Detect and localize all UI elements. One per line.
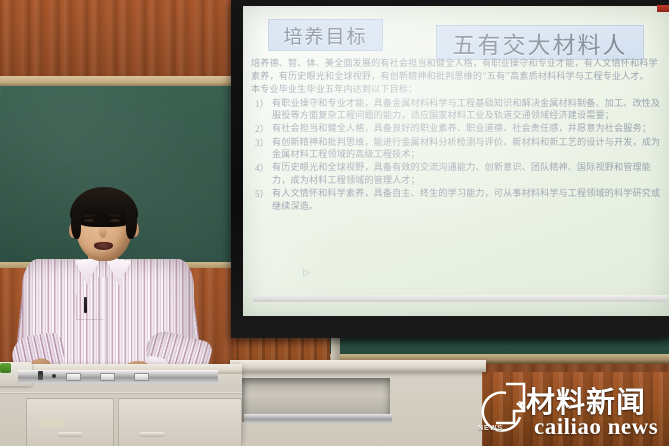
desk-right-top-lip: [230, 360, 486, 372]
speaker-eyebrow-right: [109, 214, 121, 217]
lectern-drawer-seam: [0, 392, 242, 394]
slide-goal-item: 2） 有社会担当和健全人格，具备良好的职业素养、职业道德、社会责任感，并愿意为社…: [251, 123, 661, 136]
goal-text: 有创新精神和批判思维，能进行金属材料分析检测与评价、新材料和新工艺的设计与开发，…: [272, 137, 661, 162]
goal-text: 有历史眼光和全球视野，具备有效的交流沟通能力、创新意识、团队精神、国际视野和管理…: [272, 162, 661, 187]
goal-number: 5）: [251, 188, 272, 213]
slide-intro-paragraph: 培养德、智、体、美全面发展的有社会担当和健全人格，有职业操守和专业才能，有人文情…: [251, 58, 661, 83]
slide-body: 培养德、智、体、美全面发展的有社会担当和健全人格，有职业操守和专业才能，有人文情…: [251, 58, 661, 214]
lectern-keyboard-drawer-rail: [18, 370, 218, 383]
slide-title-right: 五有交大材料人: [436, 25, 644, 60]
lectern-label-sticker: [40, 420, 64, 427]
speaker-mouth: [94, 242, 113, 250]
pen-icon: [84, 297, 87, 313]
goal-number: 3）: [251, 137, 272, 162]
lectern-drawer-pull-right[interactable]: [140, 432, 164, 437]
lectern-drawer-pull-left[interactable]: [58, 432, 82, 437]
slide-goal-item: 3） 有创新精神和批判思维，能进行金属材料分析检测与评价、新材料和新工艺的设计与…: [251, 137, 661, 162]
speaker-nose: [99, 225, 107, 238]
slide-title-left: 培养目标: [268, 19, 383, 51]
desk-right-drawer-rail: [244, 414, 392, 423]
slide-goal-item: 1） 有职业操守和专业才能，具备金属材料科学与工程基础知识和解决金属材料制备、加…: [251, 98, 661, 123]
lectern-drawer-right[interactable]: [118, 398, 242, 446]
slide-goal-item: 5） 有人文情怀和科学素养，具备自主、终生的学习能力，可从事材料科学与工程领域的…: [251, 188, 661, 213]
wall-wood-panel-top-left: [0, 0, 240, 80]
goal-number: 1）: [251, 98, 272, 123]
goal-text: 有社会担当和健全人格，具备良好的职业素养、职业道德、社会责任感，并愿意为社会服务…: [272, 123, 661, 136]
slide-lead-in: 本专业毕业生毕业五年内达到以下目标：: [251, 84, 661, 97]
lecture-photo-scene: 培养目标 五有交大材料人 培养德、智、体、美全面发展的有社会担当和健全人格，有职…: [0, 0, 669, 446]
screen-bottom-bar: [253, 295, 667, 302]
green-object-on-lectern: [0, 363, 11, 373]
lectern-rail-knob: [38, 371, 43, 380]
projection-screen-surface: 培养目标 五有交大材料人 培养德、智、体、美全面发展的有社会担当和健全人格，有职…: [243, 6, 669, 316]
shirt-pocket: [76, 295, 103, 320]
lectern-button-3[interactable]: [134, 373, 149, 381]
lectern-button-2[interactable]: [100, 373, 115, 381]
lectern-indicator-dot: [52, 374, 56, 378]
projection-screen-frame: 培养目标 五有交大材料人 培养德、智、体、美全面发展的有社会担当和健全人格，有职…: [231, 0, 669, 338]
slide-goal-item: 4） 有历史眼光和全球视野，具备有效的交流沟通能力、创新意识、团队精神、国际视野…: [251, 162, 661, 187]
goal-text: 有人文情怀和科学素养，具备自主、终生的学习能力，可从事材料科学与工程领域的科学研…: [272, 188, 661, 213]
mouse-pointer-icon: ▷: [303, 268, 310, 277]
lectern-button-1[interactable]: [66, 373, 81, 381]
goal-number: 4）: [251, 162, 272, 187]
goal-number: 2）: [251, 123, 272, 136]
speaker-hair: [70, 187, 138, 227]
goal-text: 有职业操守和专业才能，具备金属材料科学与工程基础知识和解决金属材料制备、加工、改…: [272, 98, 661, 123]
red-marker-object: [657, 5, 669, 12]
